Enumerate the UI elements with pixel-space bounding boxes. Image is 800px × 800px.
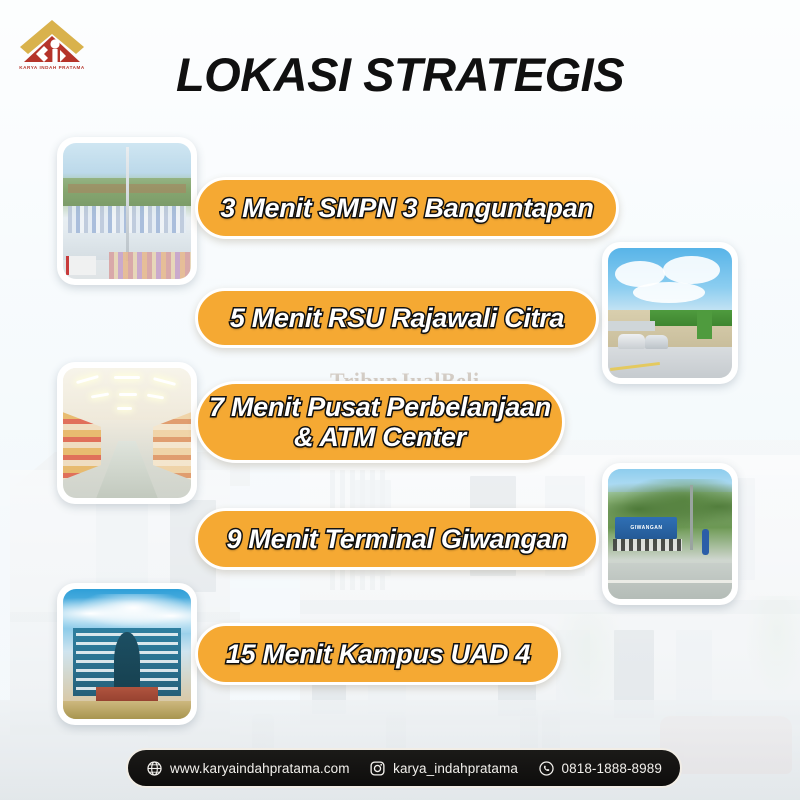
footer-instagram[interactable]: karya_indahpratama bbox=[369, 760, 518, 777]
photo-grounds bbox=[63, 701, 191, 719]
photo-road-line bbox=[608, 580, 732, 583]
photo-smpn-3-banguntapan bbox=[57, 137, 197, 285]
page-title: LOKASI STRATEGIS bbox=[0, 47, 800, 102]
photo-pusat-perbelanjaan bbox=[57, 362, 197, 504]
instagram-icon bbox=[369, 760, 386, 777]
banner-label: 15 Menit Kampus UAD 4 bbox=[226, 639, 530, 669]
banner-rsu-rajawali-citra[interactable]: 5 Menit RSU Rajawali Citra bbox=[195, 288, 599, 348]
globe-icon bbox=[146, 760, 163, 777]
footer-contact-bar: www.karyaindahpratama.com karya_indahpra… bbox=[126, 748, 682, 788]
photo-terminal-sign: GIWANGAN bbox=[615, 517, 677, 539]
photo-ceiling-lamp bbox=[119, 393, 137, 396]
photo-rsu-rajawali-citra bbox=[602, 242, 738, 384]
photo-canopy bbox=[608, 321, 655, 331]
photo-kerb-wall bbox=[613, 539, 682, 551]
photo-caption-tag bbox=[66, 256, 97, 275]
photo-terminal-sign-text: GIWANGAN bbox=[630, 525, 662, 531]
photo-person bbox=[702, 529, 709, 555]
footer-instagram-text: karya_indahpratama bbox=[393, 761, 518, 776]
banner-kampus-uad-4[interactable]: 15 Menit Kampus UAD 4 bbox=[195, 623, 561, 685]
photo-terminal-giwangan: GIWANGAN bbox=[602, 463, 738, 605]
banner-pusat-perbelanjaan[interactable]: 7 Menit Pusat Perbelanjaan & ATM Center bbox=[195, 381, 565, 463]
whatsapp-icon bbox=[538, 760, 555, 777]
footer-whatsapp[interactable]: 0818-1888-8989 bbox=[538, 760, 663, 777]
photo-car bbox=[618, 334, 645, 350]
photo-hospital-green-panel bbox=[697, 310, 712, 339]
photo-flag-pole bbox=[126, 147, 129, 261]
footer-whatsapp-text: 0818-1888-8989 bbox=[562, 761, 663, 776]
photo-car bbox=[645, 335, 667, 349]
photo-ceiling-lamp bbox=[117, 407, 132, 410]
banner-label: 3 Menit SMPN 3 Banguntapan bbox=[220, 193, 593, 223]
banner-smpn-3-banguntapan[interactable]: 3 Menit SMPN 3 Banguntapan bbox=[195, 177, 619, 239]
photo-shelf-left bbox=[63, 412, 101, 480]
banner-label: 7 Menit Pusat Perbelanjaan & ATM Center bbox=[209, 392, 551, 452]
banner-terminal-giwangan[interactable]: 9 Menit Terminal Giwangan bbox=[195, 508, 599, 570]
photo-pole bbox=[690, 485, 693, 550]
photo-kampus-uad-4 bbox=[57, 583, 197, 725]
photo-cloud bbox=[663, 256, 720, 285]
banner-label: 5 Menit RSU Rajawali Citra bbox=[230, 303, 564, 333]
photo-ceiling-lamp bbox=[114, 376, 140, 379]
photo-crowd bbox=[109, 252, 191, 279]
photo-cloud bbox=[633, 282, 705, 303]
footer-website[interactable]: www.karyaindahpratama.com bbox=[146, 760, 350, 777]
photo-shelf-right bbox=[153, 412, 191, 480]
banner-label: 9 Menit Terminal Giwangan bbox=[226, 524, 567, 554]
photo-entrance-arch bbox=[114, 632, 140, 694]
photo-parking-lot bbox=[608, 347, 732, 378]
footer-website-text: www.karyaindahpratama.com bbox=[170, 761, 350, 776]
photo-aisle-floor bbox=[96, 441, 157, 498]
photo-hospital-green-facade bbox=[650, 310, 732, 326]
